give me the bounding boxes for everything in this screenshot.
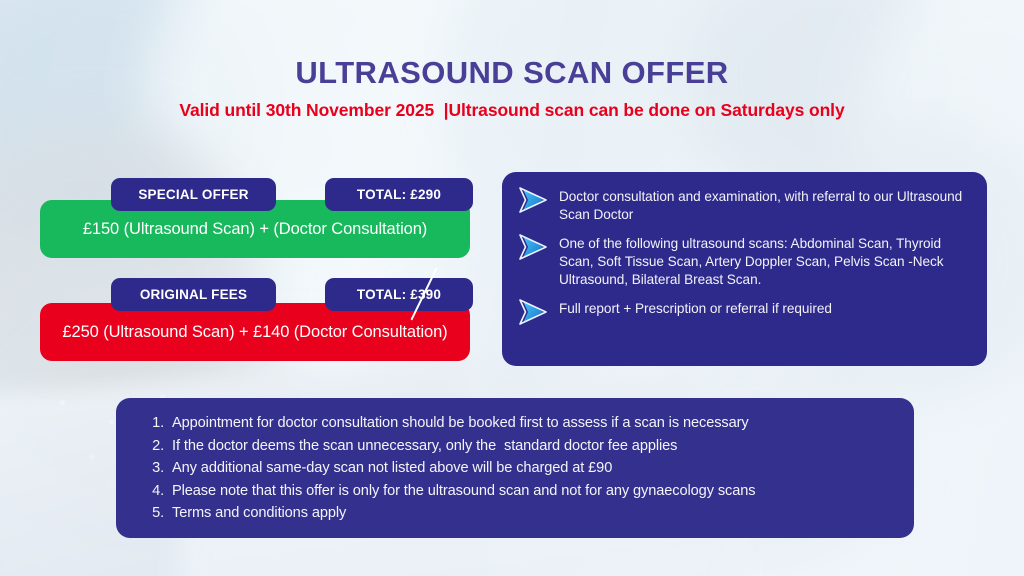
special-offer-badge: SPECIAL OFFER [111, 178, 276, 211]
original-fees-breakdown: £250 (Ultrasound Scan) + £140 (Doctor Co… [62, 323, 447, 342]
terms-list: Appointment for doctor consultation shou… [144, 412, 894, 525]
inclusion-item: Full report + Prescription or referral i… [516, 300, 969, 326]
original-fees-badge-label: ORIGINAL FEES [140, 287, 247, 302]
arrow-chevron-icon [516, 186, 550, 214]
terms-item: Appointment for doctor consultation shou… [168, 412, 894, 435]
arrow-chevron-icon [516, 233, 550, 261]
original-fees-total-label: TOTAL: £390 [357, 287, 441, 302]
special-offer-total-label: TOTAL: £290 [357, 187, 441, 202]
terms-item: Please note that this offer is only for … [168, 480, 894, 503]
terms-panel: Appointment for doctor consultation shou… [116, 398, 914, 538]
original-fees-badge: ORIGINAL FEES [111, 278, 276, 311]
original-fees-panel: £250 (Ultrasound Scan) + £140 (Doctor Co… [40, 303, 470, 361]
terms-item: If the doctor deems the scan unnecessary… [168, 435, 894, 458]
inclusion-text: Doctor consultation and examination, wit… [559, 188, 969, 224]
inclusion-item: Doctor consultation and examination, wit… [516, 188, 969, 224]
terms-item: Terms and conditions apply [168, 502, 894, 525]
inclusion-text: Full report + Prescription or referral i… [559, 300, 832, 318]
special-offer-breakdown: £150 (Ultrasound Scan) + (Doctor Consult… [83, 220, 427, 239]
original-fees-total-badge: TOTAL: £390 [325, 278, 473, 311]
inclusion-item: One of the following ultrasound scans: A… [516, 235, 969, 289]
special-offer-badge-label: SPECIAL OFFER [138, 187, 248, 202]
terms-item: Any additional same-day scan not listed … [168, 457, 894, 480]
inclusion-text: One of the following ultrasound scans: A… [559, 235, 969, 289]
inclusions-panel: Doctor consultation and examination, wit… [502, 172, 987, 366]
arrow-chevron-icon [516, 298, 550, 326]
special-offer-total-badge: TOTAL: £290 [325, 178, 473, 211]
